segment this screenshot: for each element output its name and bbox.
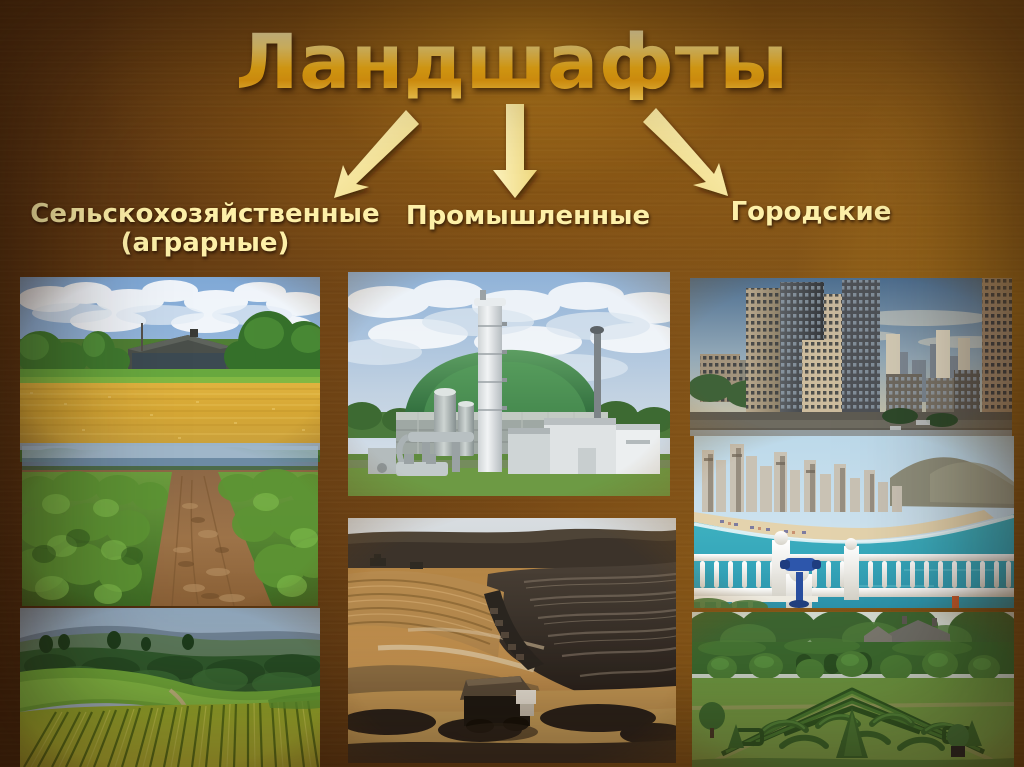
photo-open-pit-coal-mine — [348, 518, 676, 763]
photo-vineyard-rows — [22, 446, 318, 606]
category-label-agricultural-line2: (аграрные) — [0, 229, 410, 258]
presentation-slide: Ландшафты — [0, 0, 1024, 767]
page-title: Ландшафты — [0, 24, 1024, 100]
category-label-agricultural: Сельскохозяйственные (аграрные) — [0, 200, 410, 258]
photo-hill-vineyard-terraces — [20, 608, 320, 767]
arrow-left — [322, 108, 422, 200]
category-label-industrial: Промышленные — [392, 202, 664, 231]
photo-coastal-resort-bay — [694, 436, 1014, 608]
category-label-urban: Городские — [686, 198, 936, 227]
photo-city-highrise-towers — [690, 278, 1012, 436]
arrow-center — [486, 104, 544, 200]
arrow-right — [640, 106, 740, 198]
photo-biogas-plant — [348, 272, 670, 496]
category-label-urban-line1: Городские — [686, 198, 936, 227]
category-label-industrial-line1: Промышленные — [392, 202, 664, 231]
category-label-agricultural-line1: Сельскохозяйственные — [0, 200, 410, 229]
photo-formal-topiary-garden — [692, 612, 1014, 767]
photo-wheat-field-farmhouse — [20, 277, 320, 462]
